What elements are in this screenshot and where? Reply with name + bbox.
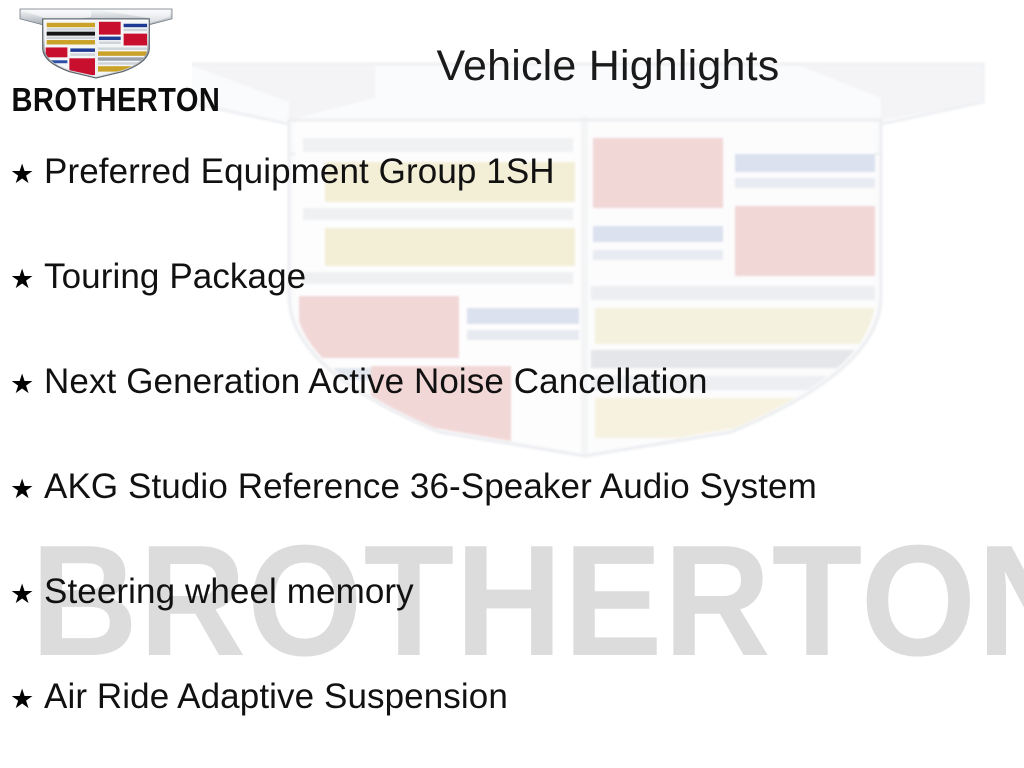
star-bullet-icon: ★ — [10, 471, 44, 507]
dealer-logo: BROTHERTON — [0, 0, 192, 128]
list-item: ★ Touring Package — [0, 257, 1024, 362]
list-item: ★ AKG Studio Reference 36-Speaker Audio … — [0, 467, 1024, 572]
star-bullet-icon: ★ — [10, 576, 44, 612]
dealer-name-wordmark: BROTHERTON — [12, 82, 181, 118]
highlight-label: Preferred Equipment Group 1SH — [44, 152, 555, 192]
list-item: ★ Preferred Equipment Group 1SH — [0, 152, 1024, 257]
slide-canvas: BROTHERTON — [0, 0, 1024, 768]
star-bullet-icon: ★ — [10, 366, 44, 402]
page-title: Vehicle Highlights — [192, 40, 1024, 92]
cadillac-crest-icon — [16, 6, 176, 80]
highlight-label: Steering wheel memory — [44, 572, 414, 612]
star-bullet-icon: ★ — [10, 156, 44, 192]
list-item: ★ Next Generation Active Noise Cancellat… — [0, 362, 1024, 467]
highlights-list: ★ Preferred Equipment Group 1SH ★ Tourin… — [0, 152, 1024, 768]
highlight-label: Touring Package — [44, 257, 306, 297]
list-item: ★ Steering wheel memory — [0, 572, 1024, 677]
list-item: ★ Air Ride Adaptive Suspension — [0, 677, 1024, 768]
star-bullet-icon: ★ — [10, 681, 44, 717]
highlight-label: Next Generation Active Noise Cancellatio… — [44, 362, 708, 402]
star-bullet-icon: ★ — [10, 261, 44, 297]
highlight-label: AKG Studio Reference 36-Speaker Audio Sy… — [44, 467, 817, 507]
highlight-label: Air Ride Adaptive Suspension — [44, 677, 508, 717]
